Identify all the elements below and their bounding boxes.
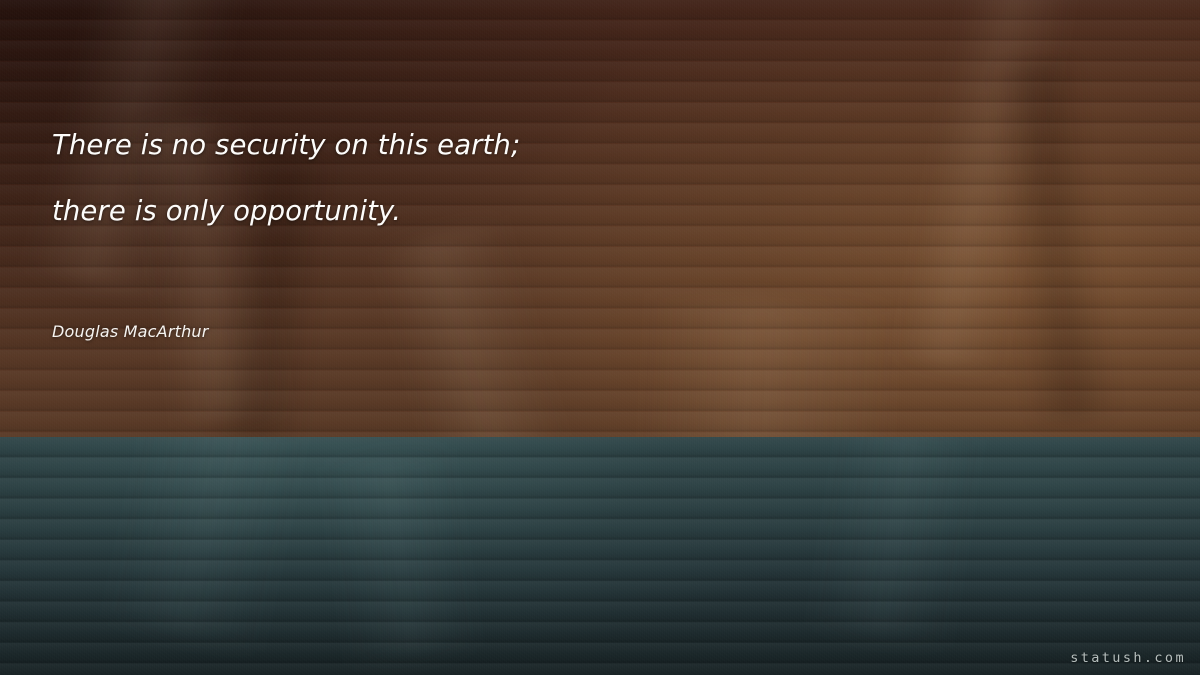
quote-author: Douglas MacArthur [52,320,209,344]
quote-line-2: there is only opportunity. [52,178,1092,244]
quote-text-block: There is no security on this earth; ther… [52,112,1092,244]
site-watermark: statush.com [1070,649,1186,667]
content-layer: There is no security on this earth; ther… [0,0,1200,675]
quote-image-canvas: There is no security on this earth; ther… [0,0,1200,675]
quote-line-1: There is no security on this earth; [52,112,1092,178]
